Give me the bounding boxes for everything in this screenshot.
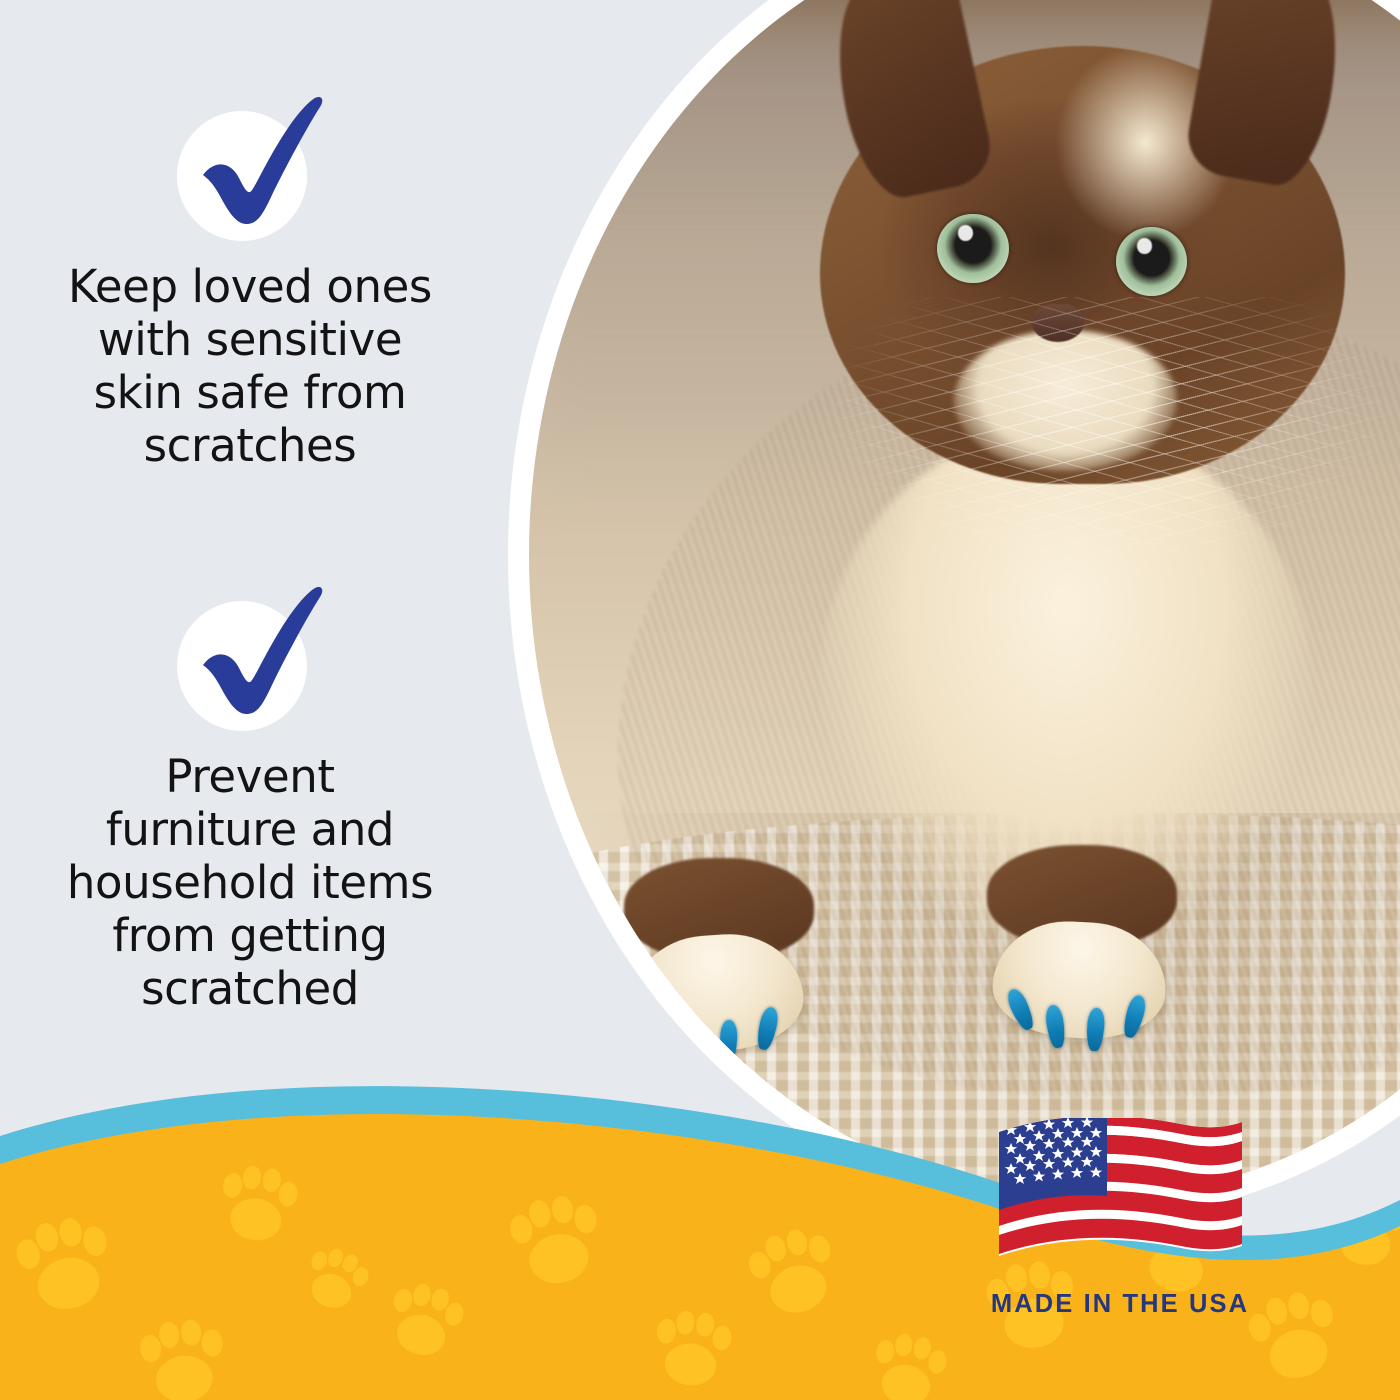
us-flag-icon — [999, 1118, 1242, 1264]
checkmark-icon — [175, 96, 325, 246]
feature-list: Keep loved ones with sensitive skin safe… — [0, 0, 500, 1090]
feature-item: Keep loved ones with sensitive skin safe… — [0, 96, 500, 472]
made-in-usa-label: MADE IN THE USA — [960, 1290, 1280, 1319]
made-in-usa-badge: MADE IN THE USA — [960, 1118, 1280, 1319]
cat-eye-left — [937, 214, 1009, 284]
cat-eye-right — [1116, 227, 1188, 297]
infographic-canvas: Keep loved ones with sensitive skin safe… — [0, 0, 1400, 1400]
cat-whiskers — [797, 297, 1400, 555]
feature-label: Keep loved ones with sensitive skin safe… — [0, 260, 500, 472]
feature-item: Prevent furniture and household items fr… — [0, 586, 500, 1015]
cat-photo — [529, 0, 1400, 1199]
feature-label: Prevent furniture and household items fr… — [0, 750, 500, 1015]
checkmark-icon — [175, 586, 325, 736]
